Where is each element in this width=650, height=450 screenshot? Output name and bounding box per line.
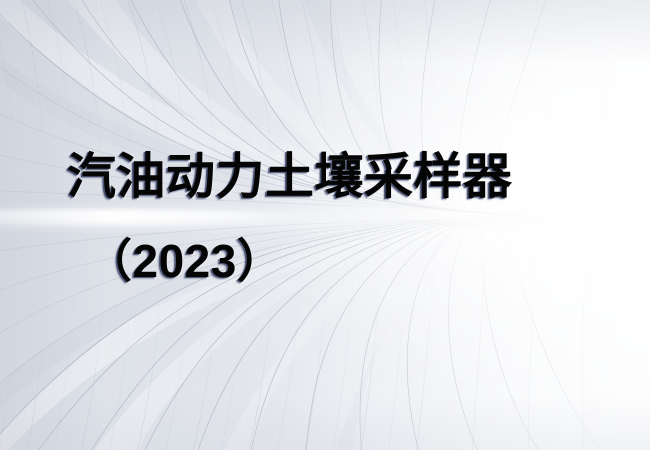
slide-text-block: 汽油动力土壤采样器 （2023） bbox=[0, 0, 650, 450]
title-slide: 汽油动力土壤采样器 （2023） bbox=[0, 0, 650, 450]
slide-year: （2023） bbox=[86, 233, 283, 289]
slide-title: 汽油动力土壤采样器 bbox=[67, 148, 513, 206]
